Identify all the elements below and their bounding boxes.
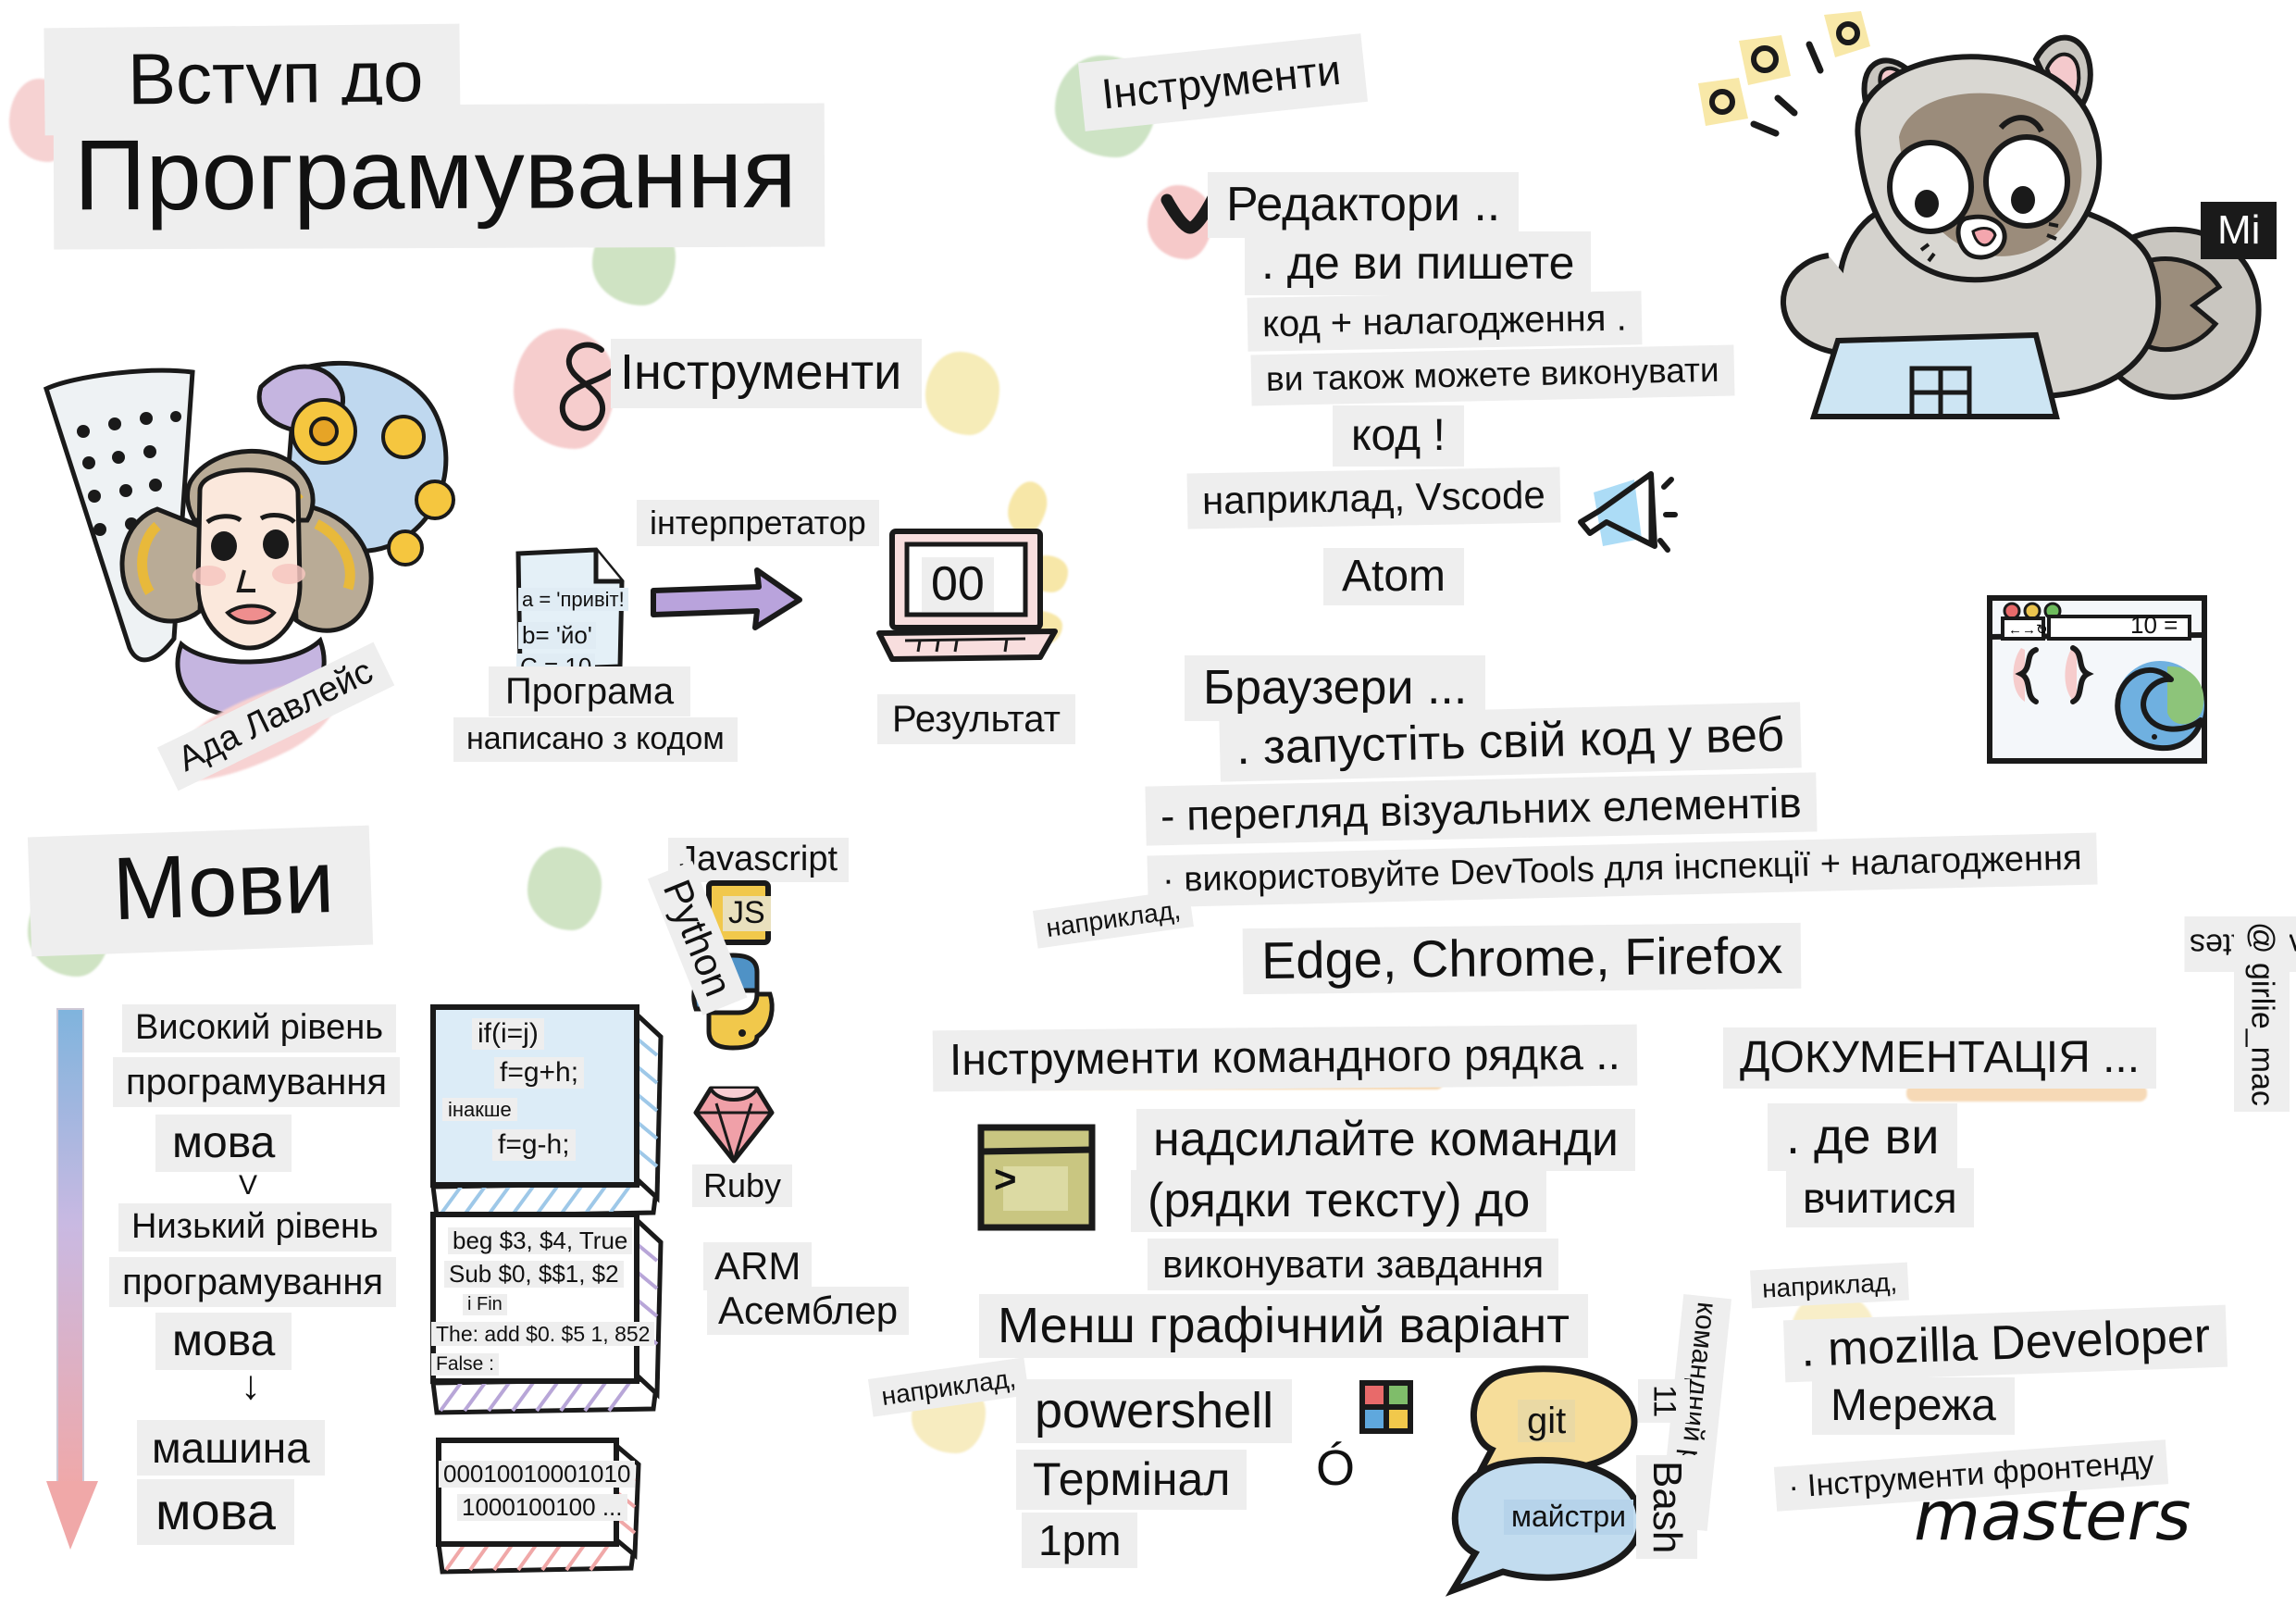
- tools-heading-left: Інструменти: [611, 339, 922, 408]
- browsers-example-label: наприклад,: [1033, 889, 1194, 949]
- ada-lovelace-illustration: [19, 342, 481, 731]
- editors-line-3: ви також можете виконувати: [1250, 345, 1734, 406]
- editors-heading: Редактори ..: [1208, 172, 1519, 238]
- docs-heading: ДОКУМЕНТАЦІЯ ...: [1723, 1027, 2156, 1089]
- badge-ruby: Ruby: [692, 1164, 792, 1207]
- high-level-line-2: програмування: [113, 1057, 400, 1107]
- editors-line-2: код + налагодження .: [1247, 291, 1643, 351]
- code-line-1: a = 'привіт!: [518, 588, 628, 611]
- arm-label-2: Асемблер: [707, 1287, 909, 1335]
- snippet-asm-line-5: False :: [431, 1353, 499, 1376]
- swatch-yellow-tools: [925, 352, 999, 435]
- editors-example-2: Atom: [1323, 548, 1464, 605]
- tools-sticker-label: Інструменти: [1078, 33, 1368, 131]
- cli-line-3: виконувати завдання: [1148, 1239, 1558, 1290]
- vscode-icon: [1571, 461, 1673, 563]
- cli-item-terminal: Термінал: [1016, 1450, 1247, 1510]
- ruby-logo-icon: [690, 1083, 777, 1166]
- snippet-asm-line-2: Sub $0, $$1, $2: [444, 1261, 624, 1288]
- mi-badge: Mi: [2201, 202, 2277, 259]
- windows-logo-icon: [1359, 1379, 1416, 1437]
- docs-line-1: . де ви: [1768, 1103, 1957, 1171]
- browsers-line-3: · використовуйте DevTools для інспекції …: [1147, 832, 2097, 907]
- svg-text:←→↻: ←→↻: [2008, 622, 2048, 638]
- code-line-2: b= 'йо': [518, 622, 596, 649]
- sketchnote-canvas: Вступ до Програмування Інструменти Інстр…: [0, 0, 2296, 1619]
- snippet-high-line-2: f=g+h;: [494, 1057, 584, 1089]
- machine-line-1: машина: [137, 1420, 325, 1476]
- snippet-bin-line-2: 1000100100 ...: [457, 1494, 627, 1521]
- program-subtitle: написано з кодом: [453, 717, 738, 762]
- snippet-asm-line-1: beg $3, $4, True: [448, 1227, 632, 1254]
- docs-line-2: вчитися: [1786, 1168, 1974, 1227]
- edge-icon: [2106, 648, 2217, 759]
- handle-user: @ girlie_mac: [2234, 916, 2290, 1112]
- low-level-line-1: Низький рівень: [118, 1203, 391, 1252]
- browsers-line-2: - перегляд візуальних елементів: [1145, 772, 1817, 845]
- js-logo-label: JS: [723, 896, 771, 931]
- cli-item-powershell: powershell: [1016, 1379, 1292, 1443]
- browsers-line-1: . запустіть свій код у веб: [1219, 702, 1802, 781]
- sparkle-icons: [1698, 9, 1911, 176]
- program-title: Програма: [489, 666, 690, 716]
- low-level-line-3: мова: [155, 1313, 292, 1370]
- cli-line-2: (рядки тексту) до: [1131, 1170, 1546, 1232]
- cli-less-graphical: Менш графічний варіант: [979, 1294, 1588, 1358]
- high-level-line-1: Високий рівень: [122, 1004, 396, 1052]
- snippet-high-line-1: if(i=j): [472, 1018, 544, 1050]
- editors-line-1: . де ви пишете: [1245, 231, 1591, 295]
- editors-example-1: наприклад, Vscode: [1187, 467, 1561, 529]
- level-arrow-mid: V: [239, 1171, 257, 1201]
- page-title-line2: Програмування: [54, 104, 825, 250]
- terminal-prompt-glyph: >: [994, 1159, 1017, 1200]
- terminal-icon: [970, 1118, 1109, 1239]
- arm-label-1: ARM: [703, 1242, 812, 1290]
- docs-example-label: наприклад,: [1750, 1263, 1909, 1309]
- low-level-line-2: програмування: [109, 1257, 396, 1307]
- interpreter-arrow-icon: [648, 563, 805, 637]
- browser-url-value: 10 =: [2130, 613, 2178, 638]
- browsers-examples: Edge, Chrome, Firefox: [1243, 923, 1802, 994]
- result-screen-value: 00: [922, 557, 994, 612]
- swatch-green-languages-2: [527, 847, 602, 930]
- cli-item-1pm: 1pm: [1022, 1513, 1137, 1568]
- signature: masters: [1914, 1481, 2191, 1553]
- result-label: Результат: [877, 694, 1075, 744]
- snippet-asm-line-4: The: add $0. $5 1, 852: [431, 1322, 654, 1346]
- level-gradient-arrow-icon: [44, 1007, 100, 1553]
- cli-line-1: надсилайте команди: [1136, 1109, 1635, 1171]
- interpreter-label: інтерпретатор: [637, 500, 879, 546]
- apple-glyph: Ó: [1316, 1442, 1355, 1495]
- git-bubble-label: git: [1518, 1400, 1575, 1442]
- snippet-bin-line-1: 00010010001010: [439, 1461, 635, 1488]
- masters-bubble-label: майстри: [1504, 1500, 1633, 1535]
- snippet-asm-line-3: i Fin: [463, 1294, 507, 1315]
- snippet-high-line-3: інакше: [442, 1098, 517, 1121]
- level-arrow-down: ↓: [241, 1364, 261, 1407]
- cli-vertical-bash: Bash: [1636, 1455, 1697, 1559]
- cli-heading: Інструменти командного рядка ..: [933, 1025, 1637, 1092]
- machine-line-2: мова: [137, 1479, 294, 1545]
- editors-line-4: код !: [1333, 405, 1464, 467]
- docs-example-2: Мережа: [1812, 1377, 2015, 1435]
- snippet-high-line-4: f=g-h;: [492, 1129, 576, 1161]
- cli-vertical-11: 11: [1638, 1379, 1690, 1423]
- high-level-line-3: мова: [155, 1115, 292, 1172]
- languages-heading: Мови: [28, 826, 373, 957]
